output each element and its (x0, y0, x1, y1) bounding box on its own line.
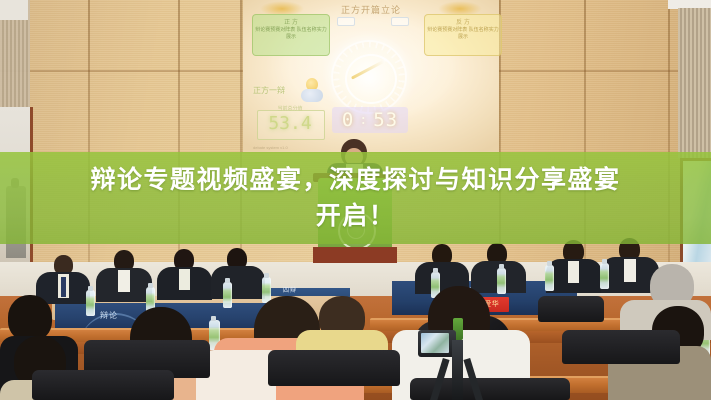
chair (562, 330, 680, 364)
screen-countdown-timer: 0 : 53 (332, 107, 408, 133)
dial-ticks (333, 42, 405, 112)
timer-seconds: 53 (373, 109, 398, 131)
debater-shirt (568, 261, 579, 283)
screen-score-value: 53.4 (259, 113, 321, 134)
screen-card-name: 反 方 (425, 20, 501, 27)
chair (538, 296, 604, 322)
screen-footer: debate system v1.0 (253, 145, 288, 150)
gauge-dial-icon (333, 42, 405, 112)
water-bottle-icon (497, 268, 506, 294)
debater-torso (211, 266, 265, 299)
podium-base (313, 247, 397, 263)
debater-tie (61, 277, 66, 297)
water-bottle-icon (545, 265, 554, 291)
screen-card-detail: 辩论赛预赛对阵表 队伍名称实力展示 (253, 27, 329, 41)
lightbulb-icon (301, 78, 323, 104)
timer-minutes: 0 (342, 109, 354, 131)
screenshot-root: 正方开篇立论 正 方 辩论赛预赛对阵表 队伍名称实力展示 反 方 辩论赛预赛对阵… (0, 0, 711, 400)
title-line-1: 辩论专题视频盛宴，深度探讨与知识分享盛宴 (90, 163, 620, 197)
title-line-2: 开启！ (316, 199, 396, 233)
tripod-icon (452, 340, 463, 400)
water-bottle-icon (223, 282, 232, 308)
title-overlay-text: 辩论专题视频盛宴，深度探讨与知识分享盛宴 开启！ (0, 152, 711, 244)
skirt-logo: 辩论 (100, 310, 134, 322)
screen-card-affirmative: 正 方 辩论赛预赛对阵表 队伍名称实力展示 (252, 14, 330, 56)
screen-side-label: 正方一辩 (253, 85, 285, 96)
timer-separator: : (359, 113, 368, 128)
chair (32, 370, 174, 400)
screen-tab-b (391, 17, 409, 26)
screen-emblem-right (438, 1, 482, 14)
audience-head (8, 295, 52, 341)
debater-shirt (118, 270, 130, 292)
projection-screen: 正方开篇立论 正 方 辩论赛预赛对阵表 队伍名称实力展示 反 方 辩论赛预赛对阵… (243, 0, 499, 152)
right-slat-panel (678, 8, 711, 158)
screen-tab-a (337, 17, 355, 26)
chair (268, 350, 400, 386)
screen-card-negative: 反 方 辩论赛预赛对阵表 队伍名称实力展示 (424, 14, 502, 56)
screen-emblem-left (260, 1, 304, 14)
water-bottle-icon (86, 290, 95, 316)
debater-shirt (179, 269, 190, 290)
water-bottle-icon (600, 263, 609, 289)
screen-card-name: 正 方 (253, 20, 329, 27)
left-ceiling-strip (0, 0, 28, 20)
camera-lcd-screen (421, 333, 449, 353)
debater-shirt (624, 259, 636, 282)
screen-card-detail: 辩论赛预赛对阵表 队伍名称实力展示 (425, 27, 501, 41)
bulb-base (301, 89, 323, 102)
placard-4: 四辩 (283, 285, 297, 294)
